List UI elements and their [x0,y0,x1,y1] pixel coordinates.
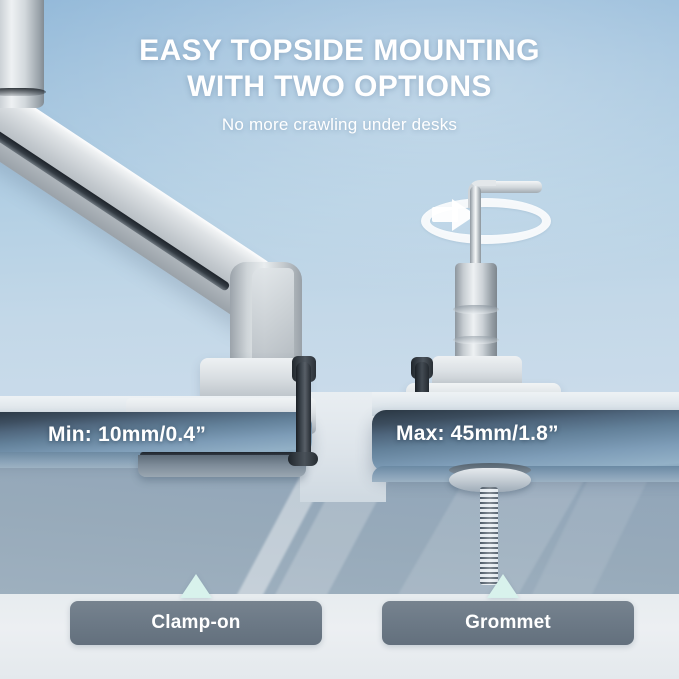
headline-line-1: EASY TOPSIDE MOUNTING [139,34,540,67]
option-label-grommet[interactable]: Grommet [382,601,634,645]
product-marketing-image: Min: 10mm/0.4” Max: 45mm/1.8” EASY TOPSI… [0,0,679,679]
triangle-up-icon [487,574,519,598]
headline: EASY TOPSIDE MOUNTING WITH TWO OPTIONS [0,33,679,105]
clamp-knob-icon [296,362,311,466]
subheadline: No more crawling under desks [0,115,679,135]
min-thickness-label: Min: 10mm/0.4” [48,423,206,447]
clamp-lower-jaw [138,455,306,477]
option-label-clamp-on[interactable]: Clamp-on [70,601,322,645]
triangle-up-icon [180,574,212,598]
grommet-bolt-ring [453,305,499,314]
monitor-arm-elbow-face [252,268,294,372]
headline-line-2: WITH TWO OPTIONS [0,69,679,105]
clamp-knob-foot [288,452,318,466]
grommet-bolt-ring [453,336,499,344]
threaded-screw-icon [480,487,498,585]
max-thickness-label: Max: 45mm/1.8” [396,422,559,446]
